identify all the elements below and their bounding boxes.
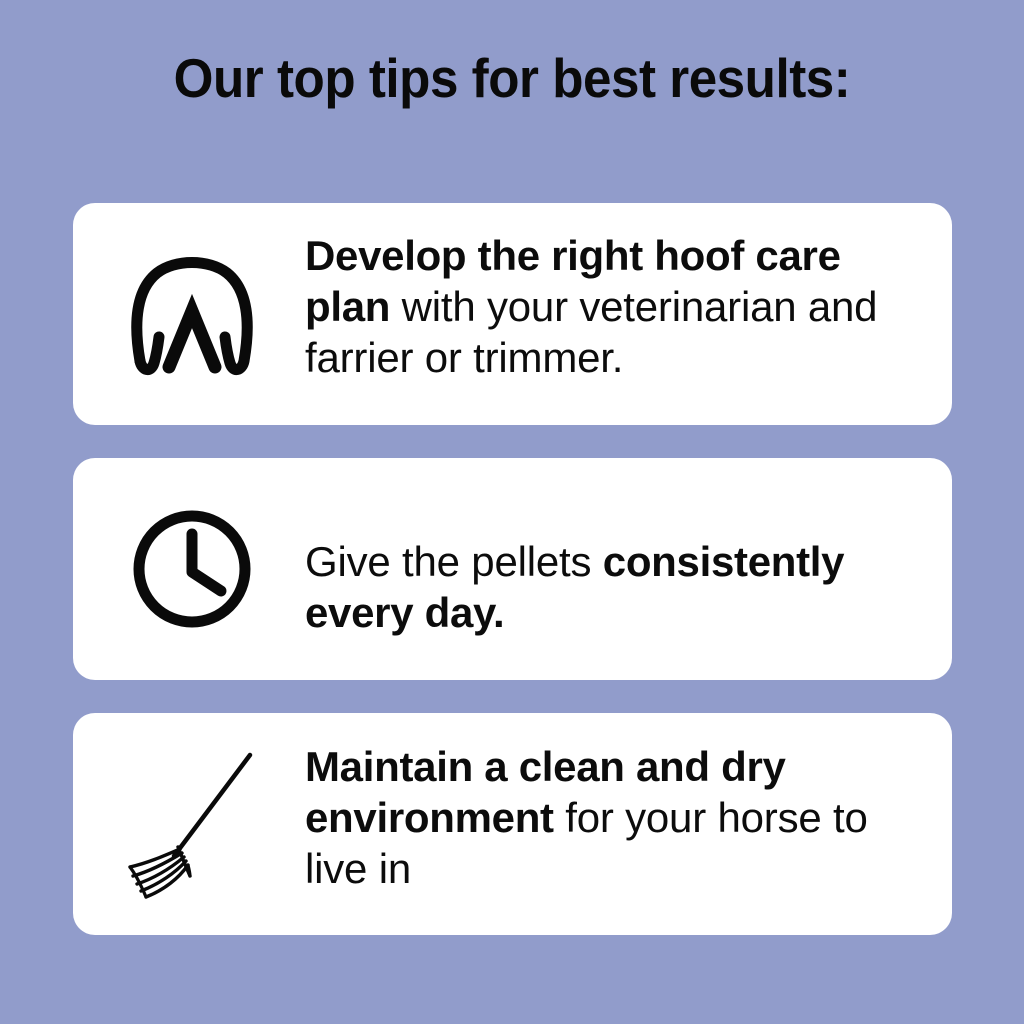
list-item-label-regular: Give the pellets xyxy=(305,538,603,585)
list-item: Give the pellets consistently every day. xyxy=(73,458,952,680)
clock-icon xyxy=(73,458,305,680)
list-item-label: Give the pellets consistently every day. xyxy=(305,458,952,638)
list-item: Develop the right hoof care plan with yo… xyxy=(73,203,952,425)
tips-list: Develop the right hoof care plan with yo… xyxy=(73,203,952,935)
list-item-label-regular: with your veterinarian and farrier or tr… xyxy=(305,283,877,381)
hoof-icon xyxy=(73,203,305,425)
page-title: Our top tips for best results: xyxy=(36,47,988,109)
poster-canvas: Our top tips for best results: Develop t… xyxy=(0,0,1024,1024)
manure-fork-icon xyxy=(73,713,305,935)
list-item: Maintain a clean and dry environment for… xyxy=(73,713,952,935)
list-item-label: Develop the right hoof care plan with yo… xyxy=(305,203,952,383)
list-item-label: Maintain a clean and dry environment for… xyxy=(305,713,952,894)
